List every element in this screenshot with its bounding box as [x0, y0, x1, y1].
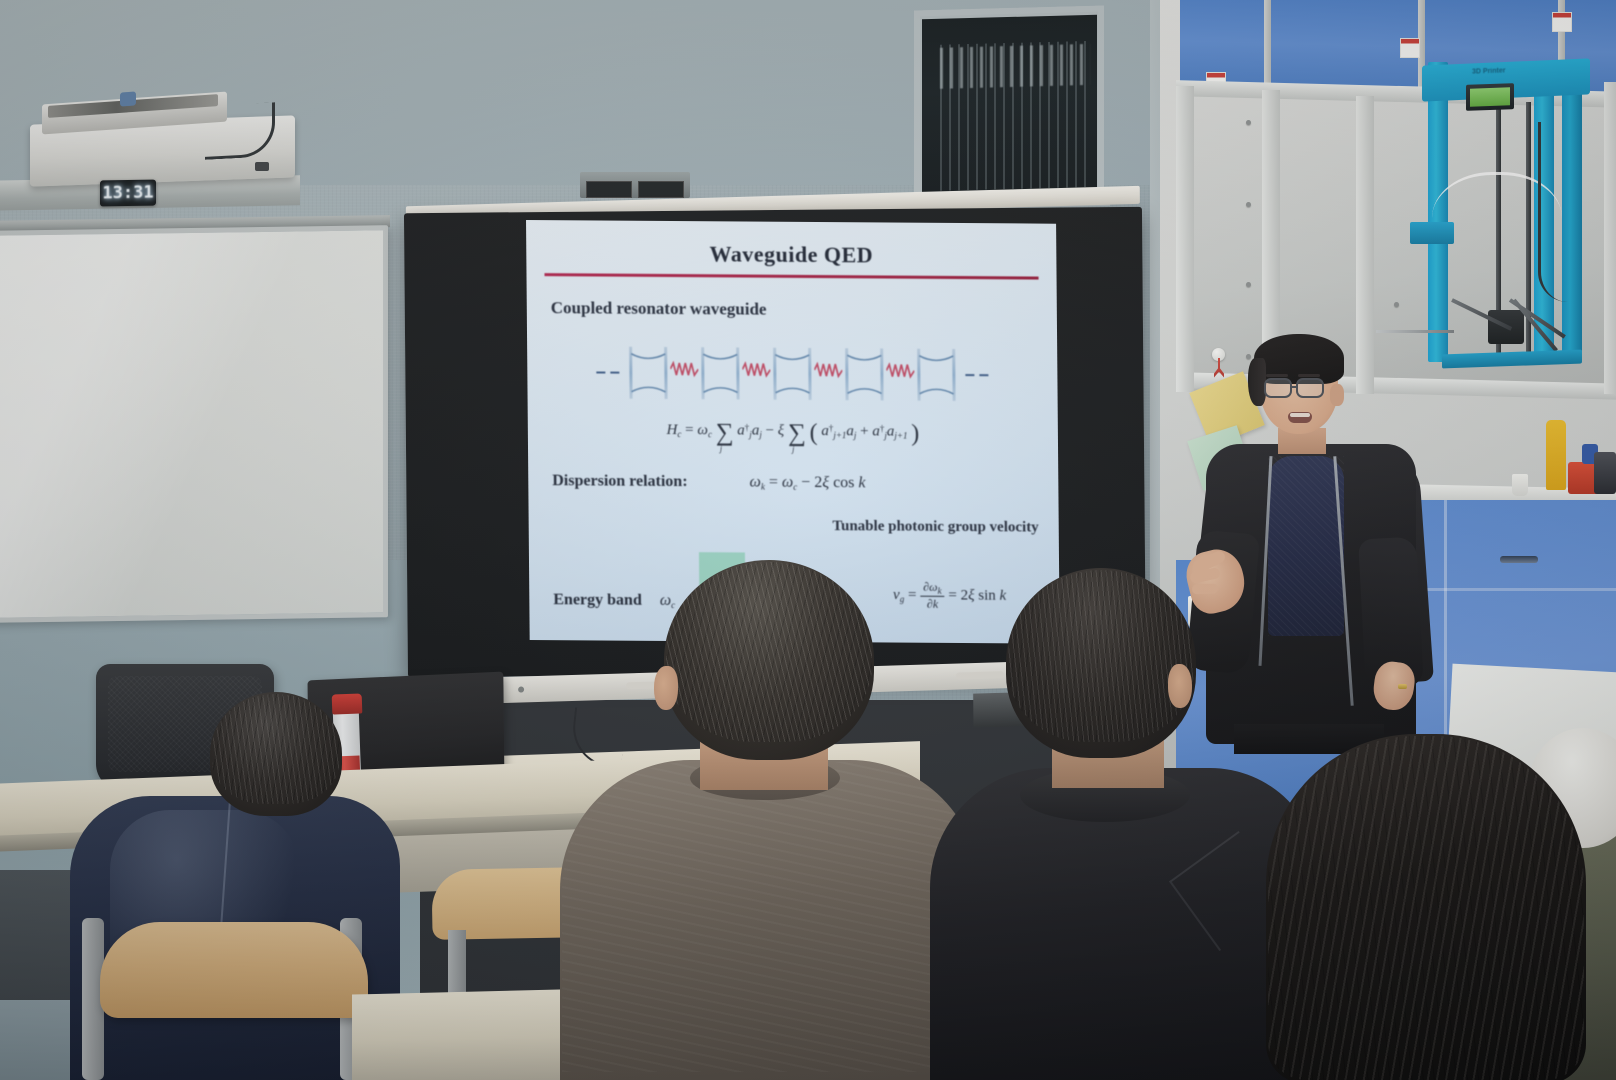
glasses-bridge-icon [1292, 386, 1298, 388]
presenter-ear [1330, 384, 1344, 406]
lead-dashes-right [965, 374, 988, 376]
lead-dashes-left [596, 371, 619, 373]
cabinet-door-divider-1 [1264, 0, 1271, 94]
ham-xi: ξ [778, 423, 785, 439]
attendee-4-hair-texture [1268, 736, 1584, 1080]
window-glass [922, 15, 1097, 203]
digital-clock: 13:31 [100, 180, 156, 207]
cavity-5 [915, 349, 957, 401]
coupler-2 [742, 347, 770, 399]
printer-lcd-screen [1470, 87, 1510, 106]
attendee-1-hair [212, 694, 340, 804]
cavity-2 [699, 347, 741, 399]
coupled-resonator-diagram [545, 346, 1040, 401]
glasses-lens-left-icon [1264, 378, 1292, 398]
thermos-lid [332, 693, 363, 714]
display-sensor-3 [956, 671, 1004, 679]
shelf-pin [1246, 120, 1251, 125]
ham-eq: = [685, 422, 694, 438]
dark-equipment [1594, 452, 1616, 494]
presenter-eyebrow-left [1266, 374, 1288, 377]
projector-knob[interactable] [120, 91, 136, 106]
slide-title: Waveguide QED [544, 240, 1038, 269]
ham-sum-1: ∑j [716, 419, 734, 446]
ham-lhs: H [666, 422, 677, 438]
cabinet-handle[interactable] [1500, 556, 1538, 563]
attendee-2-sweater-texture [562, 762, 978, 1072]
yellow-bottle [1546, 420, 1566, 490]
coupler-1 [670, 347, 698, 399]
group-velocity-equation: vg = ∂ωk ∂k = 2ξ sin k [893, 580, 1006, 613]
printer-brand-text: 3D Printer [1472, 67, 1505, 75]
projector-lens-icon [255, 162, 269, 171]
attendee-3-hair [1008, 570, 1194, 742]
ham-sum-2: ∑j [788, 420, 806, 447]
blind-highlights [940, 44, 1091, 88]
cavity-1 [627, 347, 669, 399]
clock-time: 13:31 [103, 183, 153, 204]
presenter [1186, 332, 1436, 744]
attendee-3-ear [1168, 664, 1192, 708]
shelf-pin [1394, 302, 1399, 307]
attendee-2-ear [654, 666, 678, 710]
printer-lcd[interactable] [1466, 83, 1514, 111]
presenter-ring [1398, 684, 1407, 689]
tunable-note: Tunable photonic group velocity [547, 516, 1041, 536]
ham-a-dag: a [737, 422, 745, 438]
printer-sensor-block [1410, 222, 1454, 244]
printer-wiring [1538, 122, 1568, 302]
cabinet-label-3 [1552, 12, 1572, 32]
coupler-3 [814, 348, 842, 400]
wooden-back-chair-1[interactable] [100, 922, 368, 1018]
presenter-eyebrow-right [1298, 374, 1320, 377]
slide-title-rule [544, 273, 1038, 279]
presenter-shirt [1268, 456, 1344, 636]
display-power-indicator-icon [518, 686, 524, 692]
printer-bed [1442, 350, 1582, 369]
whiteboard [0, 225, 388, 623]
hamiltonian-equation: Hc = ωc ∑j a†jaj − ξ ∑j ( a†j+1aj + a†ja… [546, 418, 1040, 449]
ham-minus: − [765, 423, 774, 439]
dispersion-label: Dispersion relation: [552, 472, 687, 491]
energy-band-label: Energy band [553, 591, 642, 610]
3d-printer: 3D Printer [1422, 62, 1592, 372]
shelf-pin [1246, 282, 1251, 287]
dispersion-row: Dispersion relation: ωk = ωc − 2ξ cos k [552, 472, 1040, 493]
cavity-3 [771, 348, 813, 400]
slide-heading: Coupled resonator waveguide [551, 298, 1039, 321]
wall-speaker-box [580, 172, 690, 198]
paper-cup-2 [1512, 474, 1528, 496]
classroom-scene: 13:31 Waveguide QED Coupled resonator wa… [0, 0, 1616, 1080]
presenter-finger [1192, 584, 1218, 595]
ham-omega: ω [697, 422, 708, 438]
ham-lhs-sub: c [677, 429, 681, 439]
shelf-pin [1246, 202, 1251, 207]
presenter-mouth [1288, 412, 1312, 423]
window [914, 6, 1104, 207]
energy-band-axis-label: ωc [660, 592, 675, 610]
cavity-4 [843, 348, 885, 400]
group-velocity-fraction: ∂ωk ∂k [920, 580, 945, 612]
coupler-4 [886, 349, 914, 401]
attendee-2-hair [666, 562, 872, 742]
cabinet-label-2 [1400, 38, 1420, 58]
ham-omega-sub: c [708, 429, 712, 439]
glasses-lens-right-icon [1296, 378, 1324, 398]
whiteboard-glare [0, 230, 383, 617]
cabinet-divider-d [1604, 82, 1616, 394]
dispersion-equation: ωk = ωc − 2ξ cos k [750, 474, 866, 493]
